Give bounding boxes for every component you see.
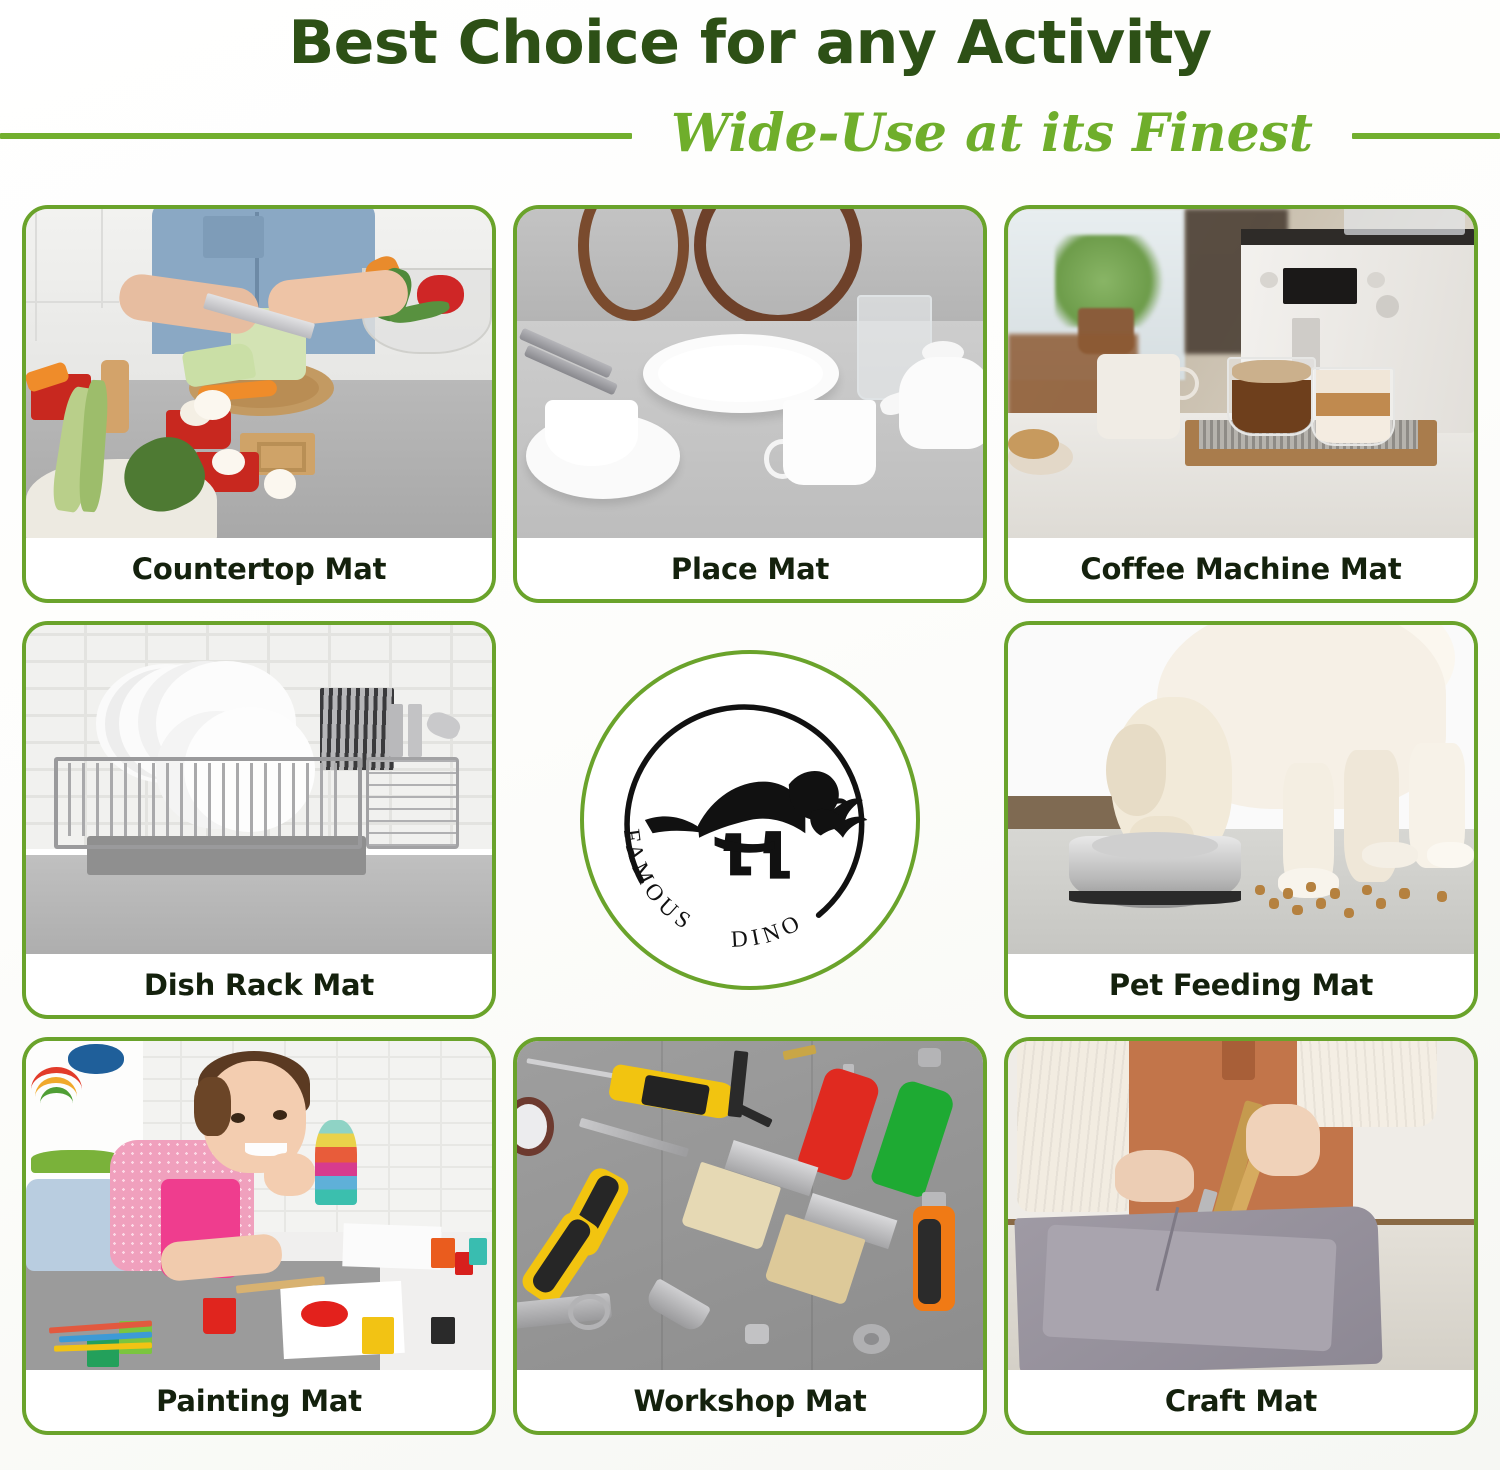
brand-logo-cell: FAMOUS DINO xyxy=(513,621,987,1019)
svg-text:DINO: DINO xyxy=(730,908,808,953)
use-case-grid: Countertop Mat Place Mat xyxy=(22,205,1478,1453)
card-painting-mat[interactable]: Painting Mat xyxy=(22,1037,496,1435)
card-craft-mat[interactable]: Craft Mat xyxy=(1004,1037,1478,1435)
divider-line-left xyxy=(0,133,632,139)
famous-dino-logo: FAMOUS DINO xyxy=(580,650,920,990)
pet-feeding-mat-image xyxy=(1008,625,1474,954)
card-caption: Workshop Mat xyxy=(517,1370,983,1431)
card-caption: Craft Mat xyxy=(1008,1370,1474,1431)
card-caption: Countertop Mat xyxy=(26,538,492,599)
craft-mat-image xyxy=(1008,1041,1474,1370)
card-dish-rack-mat[interactable]: Dish Rack Mat xyxy=(22,621,496,1019)
card-caption: Place Mat xyxy=(517,538,983,599)
card-caption: Coffee Machine Mat xyxy=(1008,538,1474,599)
dish-rack-mat-image xyxy=(26,625,492,954)
card-caption: Pet Feeding Mat xyxy=(1008,954,1474,1015)
countertop-mat-image xyxy=(26,209,492,538)
place-mat-image xyxy=(517,209,983,538)
card-caption: Painting Mat xyxy=(26,1370,492,1431)
workshop-mat-image xyxy=(517,1041,983,1370)
page-title: Best Choice for any Activity xyxy=(0,8,1500,78)
card-workshop-mat[interactable]: Workshop Mat xyxy=(513,1037,987,1435)
card-pet-feeding-mat[interactable]: Pet Feeding Mat xyxy=(1004,621,1478,1019)
svg-text:FAMOUS: FAMOUS xyxy=(618,827,699,936)
header: Best Choice for any Activity Wide-Use at… xyxy=(0,0,1500,190)
painting-mat-image xyxy=(26,1041,492,1370)
infographic-page: Best Choice for any Activity Wide-Use at… xyxy=(0,0,1500,1470)
divider-line-right xyxy=(1352,133,1500,139)
card-place-mat[interactable]: Place Mat xyxy=(513,205,987,603)
card-caption: Dish Rack Mat xyxy=(26,954,492,1015)
page-subtitle: Wide-Use at its Finest xyxy=(632,108,1352,160)
coffee-machine-mat-image xyxy=(1008,209,1474,538)
subtitle-row: Wide-Use at its Finest xyxy=(0,96,1500,176)
card-coffee-machine-mat[interactable]: Coffee Machine Mat xyxy=(1004,205,1478,603)
card-countertop-mat[interactable]: Countertop Mat xyxy=(22,205,496,603)
